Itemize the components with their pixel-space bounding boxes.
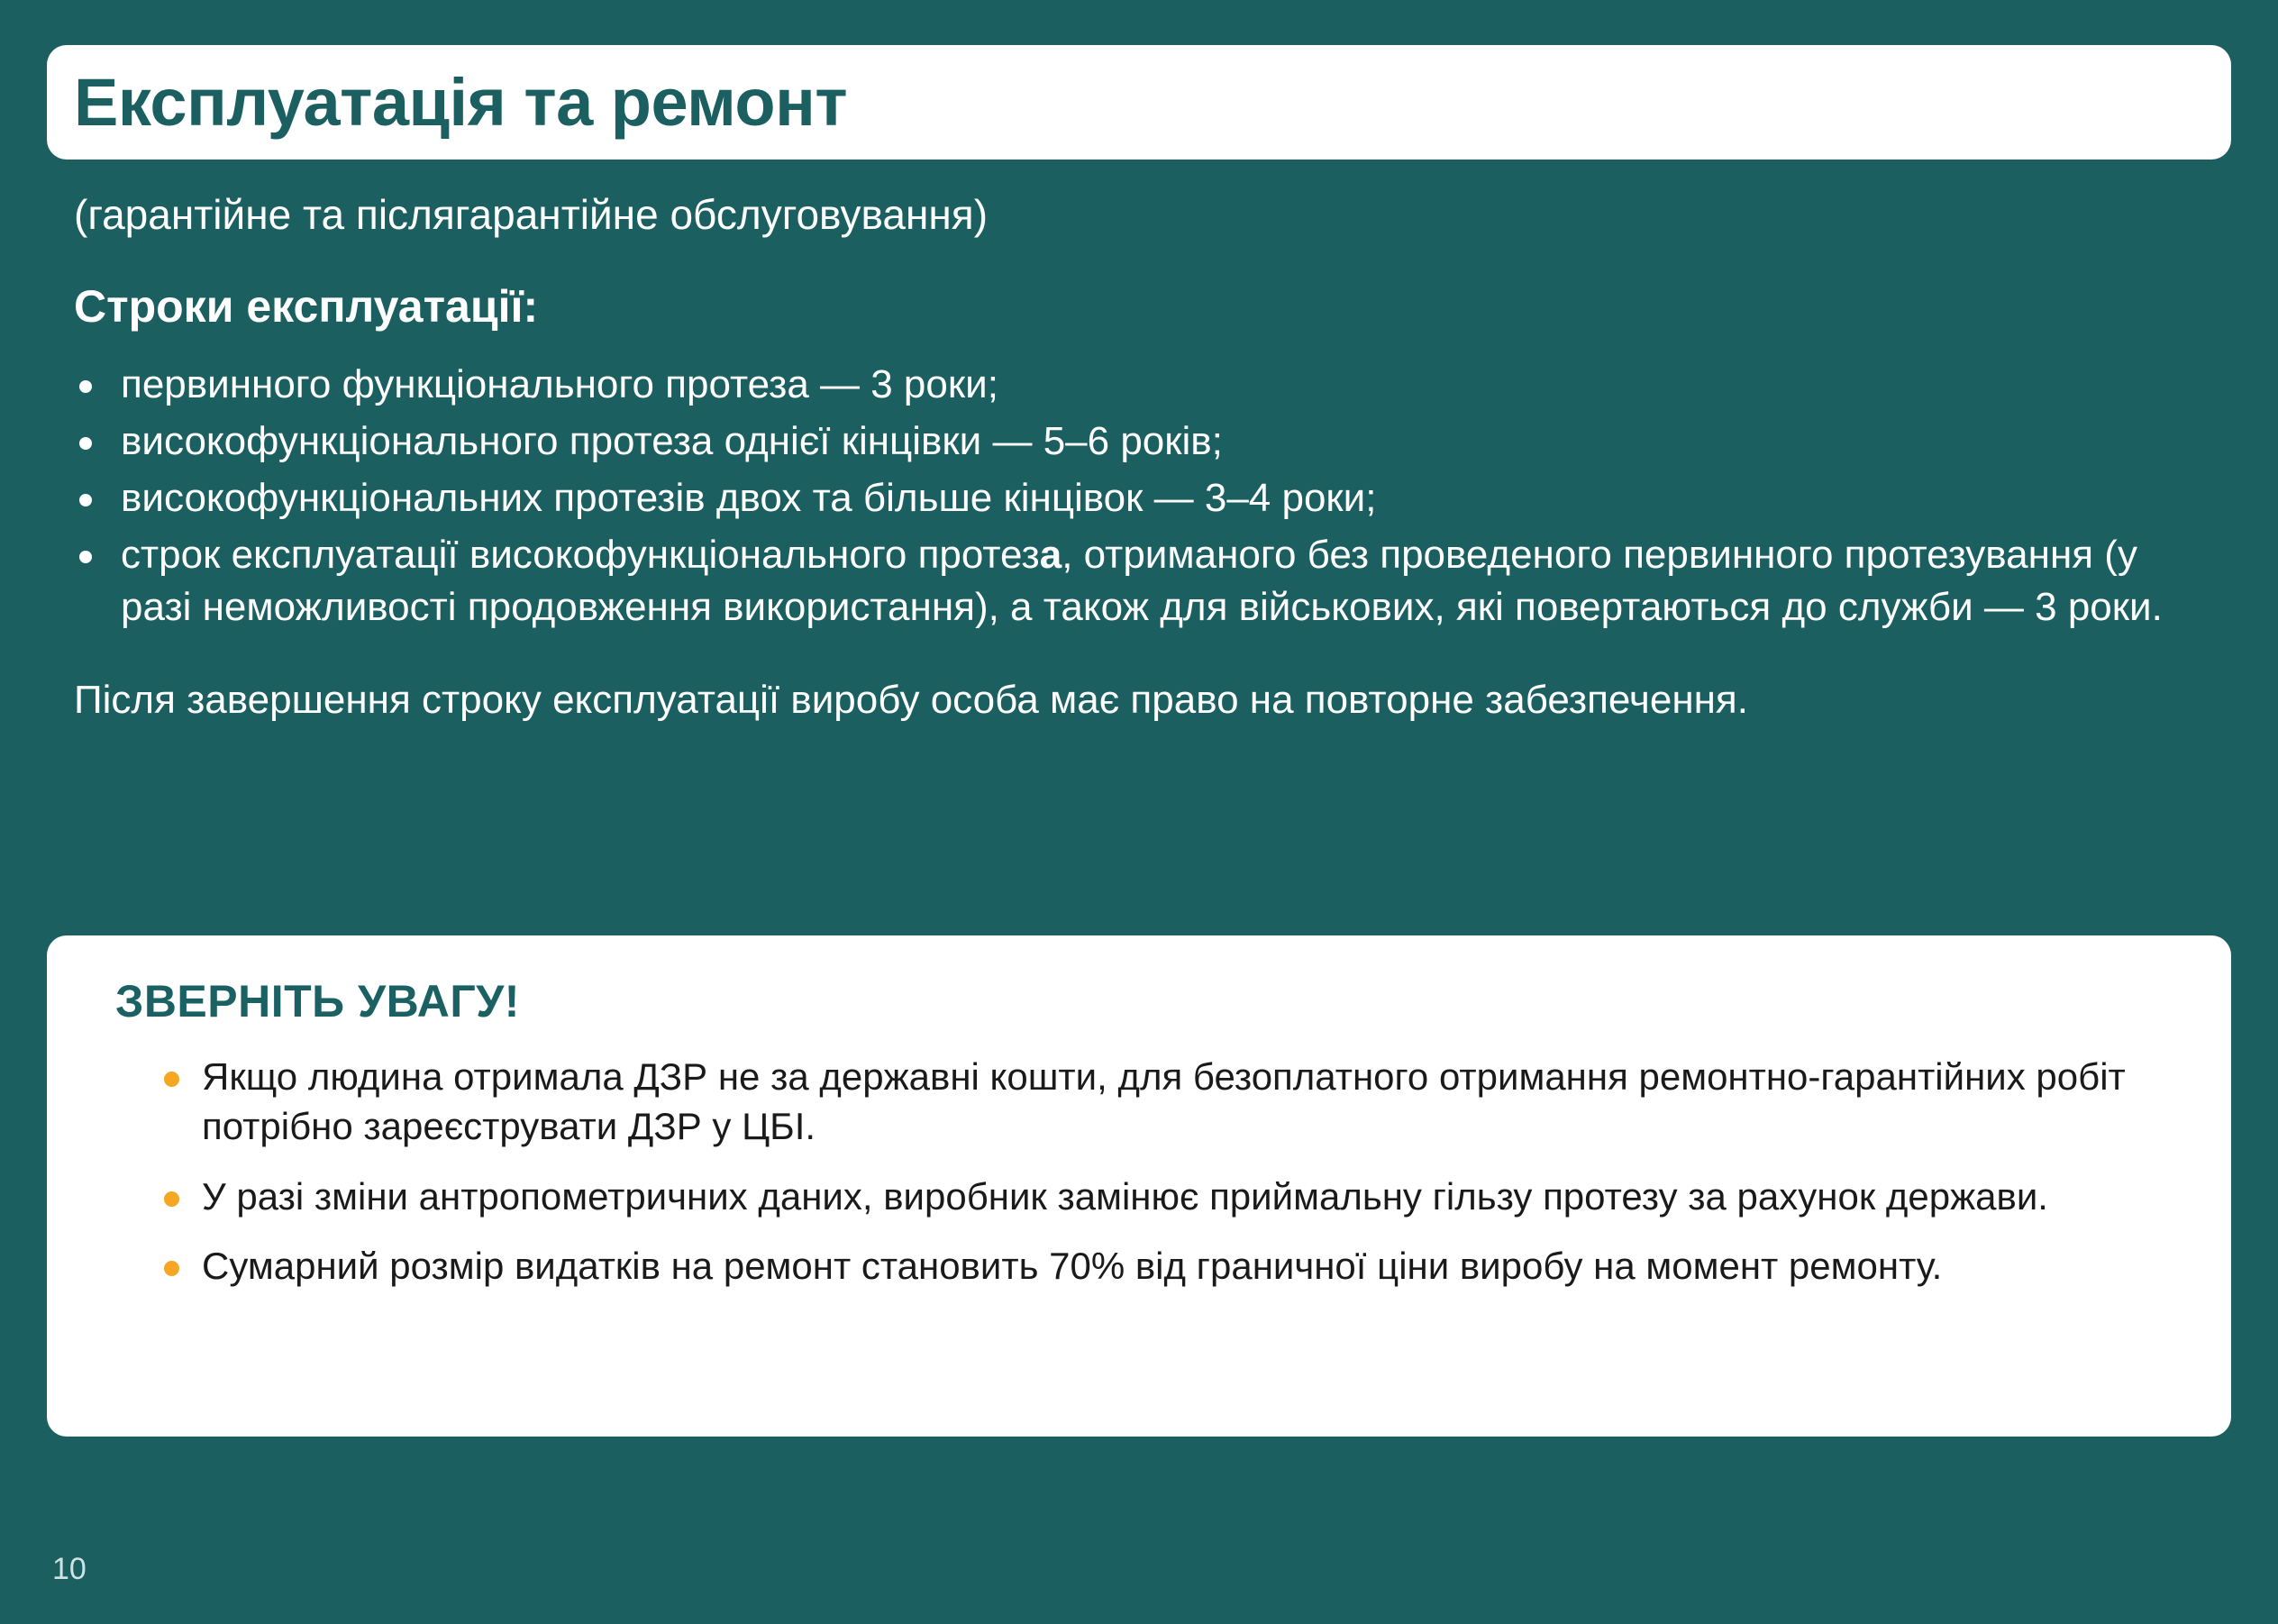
section-heading-terms: Строки експлуатації: — [74, 282, 2219, 332]
bullet-dot-icon — [164, 1072, 179, 1087]
list-item-label: первинного функціонального протеза — 3 р… — [121, 362, 998, 406]
bullet-dot-icon — [79, 437, 92, 450]
attention-list: Якщо людина отримала ДЗР не за державні … — [115, 1052, 2173, 1291]
bullet-dot-icon — [164, 1191, 179, 1207]
list-item-label: високофункціонального протеза однієї кін… — [121, 419, 1223, 463]
list-item: строк експлуатації високофункціонального… — [74, 529, 2219, 632]
title-card: Експлуатація та ремонт — [47, 45, 2231, 160]
list-item-label-part1: строк експлуатації високофункціонального… — [121, 533, 1040, 577]
list-item-label: Якщо людина отримала ДЗР не за державні … — [202, 1055, 2126, 1147]
slide-root: Експлуатація та ремонт (гарантійне та пі… — [0, 0, 2278, 1624]
terms-note: Після завершення строку експлуатації вир… — [74, 674, 1993, 726]
subtitle: (гарантійне та післягарантійне обслугову… — [74, 191, 2219, 239]
list-item: високофункціонального протеза однієї кін… — [74, 415, 2219, 467]
list-item: У разі зміни антропометричних даних, вир… — [164, 1172, 2173, 1221]
body-content: (гарантійне та післягарантійне обслугову… — [74, 191, 2219, 726]
list-item-label: Сумарний розмір видатків на ремонт стано… — [202, 1245, 1942, 1287]
page-number: 10 — [52, 1554, 87, 1584]
bullet-dot-icon — [79, 551, 92, 563]
list-item: Сумарний розмір видатків на ремонт стано… — [164, 1241, 2173, 1291]
list-item-label: У разі зміни антропометричних даних, вир… — [202, 1175, 2048, 1218]
attention-card: ЗВЕРНІТЬ УВАГУ! Якщо людина отримала ДЗР… — [47, 935, 2231, 1437]
list-item: високофункціональних протезів двох та бі… — [74, 472, 2219, 524]
bullet-dot-icon — [79, 380, 92, 393]
attention-title: ЗВЕРНІТЬ УВАГУ! — [115, 977, 2173, 1026]
list-item: первинного функціонального протеза — 3 р… — [74, 359, 2219, 410]
list-item-label: високофункціональних протезів двох та бі… — [121, 476, 1376, 520]
page-title: Експлуатація та ремонт — [74, 69, 847, 136]
list-item: Якщо людина отримала ДЗР не за державні … — [164, 1052, 2173, 1152]
list-item-label-emphasis: а — [1040, 533, 1062, 577]
bullet-dot-icon — [79, 494, 92, 506]
bullet-dot-icon — [164, 1261, 179, 1276]
terms-list: первинного функціонального протеза — 3 р… — [74, 359, 2219, 633]
